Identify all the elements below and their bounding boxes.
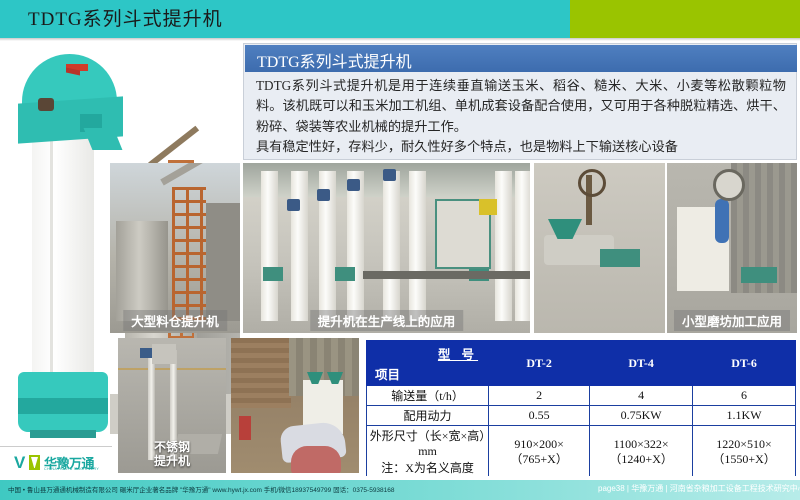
photo2-yellow-part	[479, 199, 497, 215]
footer-page-info: page38 | 华豫万通 | 河南省杂粮加工设备工程技术研究中心 |	[598, 483, 800, 494]
row-label-dimensions-line1: 外形尺寸（长×宽×高）mm	[370, 429, 486, 458]
photo4-fan-wheel	[713, 169, 745, 201]
description-paragraph-1: TDTG系列斗式提升机是用于连续垂直输送玉米、稻谷、糙米、大米、小麦等松散颗粒物…	[256, 76, 786, 137]
page-title: TDTG系列斗式提升机	[28, 4, 223, 31]
spec-table: 型 号 项目 DT-2 DT-4 DT-6 输送量（t/h） 2 4 6 配用动…	[366, 340, 796, 478]
logo-v-icon: V	[14, 454, 30, 471]
photo6-red-object	[239, 416, 251, 440]
photo5-motor	[140, 348, 152, 358]
photo5-caption-line2: 提升机	[154, 454, 190, 468]
company-logo: V 华豫万通 CHINA HUAYU MACHINERY	[14, 452, 106, 474]
cell-power-dt4: 0.75KW	[590, 406, 693, 426]
photo2-column	[291, 171, 308, 321]
cell-capacity-dt4: 4	[590, 386, 693, 406]
logo-leaf-icon	[29, 455, 40, 470]
photo5-elevator-head	[152, 344, 176, 364]
photo2-motor	[347, 179, 360, 191]
description-card: TDTG系列斗式提升机 TDTG系列斗式提升机是用于连续垂直输送玉米、稻谷、糙米…	[243, 43, 797, 160]
slide-page: TDTG系列斗式提升机 TDTG系列斗式提升机 TDTG系列斗式提升机是用于连续…	[0, 0, 800, 500]
table-header-dt4: DT-4	[590, 341, 693, 386]
spec-table-wrapper: 型 号 项目 DT-2 DT-4 DT-6 输送量（t/h） 2 4 6 配用动…	[366, 340, 796, 470]
photo-small-mill-right: 小型磨坊加工应用	[667, 163, 797, 333]
logo-subtext: CHINA HUAYU MACHINERY	[44, 467, 99, 471]
description-paragraph-2: 具有稳定性好，存料少，耐久性好多个特点，也是物料上下输送核心设备	[256, 137, 786, 157]
description-heading: TDTG系列斗式提升机	[257, 48, 412, 72]
table-row: 配用动力 0.55 0.75KW 1.1KW	[367, 406, 796, 426]
cell-capacity-dt2: 2	[489, 386, 590, 406]
photo2-motor	[287, 199, 300, 211]
cell-dimensions-dt6: 1220×510×（1550+X）	[693, 426, 796, 478]
photo2-column	[261, 171, 278, 321]
photo3-collection-table	[600, 249, 640, 267]
row-label-power: 配用动力	[367, 406, 489, 426]
photo2-column	[515, 171, 530, 321]
photo5-caption: 不锈钢 提升机	[118, 441, 226, 469]
photo2-caption: 提升机在生产线上的应用	[310, 310, 464, 331]
photo-stainless-elevator: 不锈钢 提升机	[118, 338, 226, 473]
photo2-column	[383, 171, 400, 321]
cell-power-dt2: 0.55	[489, 406, 590, 426]
elevator-body	[32, 138, 94, 388]
photo6-sack-red	[291, 446, 341, 473]
photo-large-silo-elevator: 大型料仓提升机	[110, 163, 240, 333]
photo1-wall	[206, 203, 240, 321]
footer-contact-text: 中国 • 鲁山县万通通机械制造有限公司 碾米厅企业著名品牌 "华豫万通" www…	[8, 484, 395, 494]
photo1-steel-frame	[172, 187, 206, 321]
photo3-pulley	[578, 169, 606, 197]
photo4-green-tray	[741, 267, 777, 283]
photo2-platform	[363, 271, 530, 279]
photo1-caption: 大型料仓提升机	[123, 310, 227, 331]
photo-mill-room	[231, 338, 359, 473]
table-row: 外形尺寸（长×宽×高）mm 注：X为名义高度 910×200×（765+X） 1…	[367, 426, 796, 478]
photo-small-mill-left	[534, 163, 665, 333]
photo2-column	[495, 171, 512, 321]
photo2-green-unit	[263, 267, 283, 281]
row-label-dimensions: 外形尺寸（长×宽×高）mm 注：X为名义高度	[367, 426, 489, 478]
photo2-column	[347, 171, 364, 321]
table-corner-model-label: 型 号	[438, 344, 478, 363]
page-header: TDTG系列斗式提升机	[0, 0, 800, 38]
description-title-bar: TDTG系列斗式提升机	[245, 45, 797, 72]
table-corner-item-label: 项目	[375, 364, 400, 383]
table-header-dt6: DT-6	[693, 341, 796, 386]
cell-dimensions-dt4: 1100×322×（1240+X）	[590, 426, 693, 478]
photo2-motor	[317, 189, 330, 201]
photo4-caption: 小型磨坊加工应用	[674, 310, 790, 331]
table-header-dt2: DT-2	[489, 341, 590, 386]
elevator-body-edge	[50, 138, 53, 388]
photo2-motor	[383, 169, 396, 181]
header-green-band	[570, 0, 800, 38]
photo-production-line: 提升机在生产线上的应用	[243, 163, 530, 333]
elevator-motor	[38, 98, 54, 111]
photo5-caption-line1: 不锈钢	[154, 440, 190, 454]
cell-dimensions-dt2: 910×200×（765+X）	[489, 426, 590, 478]
header-shadow	[0, 38, 800, 41]
table-row: 输送量（t/h） 2 4 6	[367, 386, 796, 406]
cell-power-dt6: 1.1KW	[693, 406, 796, 426]
page-footer: 中国 • 鲁山县万通通机械制造有限公司 碾米厅企业著名品牌 "华豫万通" www…	[0, 480, 800, 500]
table-header-row: 型 号 项目 DT-2 DT-4 DT-6	[367, 341, 796, 386]
elevator-foot-leg	[30, 430, 96, 438]
row-label-dimensions-line2: 注：X为名义高度	[369, 459, 486, 476]
photo2-column	[409, 171, 426, 321]
logo-divider	[0, 446, 112, 447]
photo6-brick-wall	[231, 338, 291, 408]
photo2-green-unit	[335, 267, 355, 281]
photo4-blue-duct	[715, 199, 729, 243]
cell-capacity-dt6: 6	[693, 386, 796, 406]
elevator-foot-band	[18, 398, 108, 414]
description-body: TDTG系列斗式提升机是用于连续垂直输送玉米、稻谷、糙米、大米、小麦等松散颗粒物…	[256, 76, 786, 158]
row-label-capacity: 输送量（t/h）	[367, 386, 489, 406]
table-corner-cell: 型 号 项目	[367, 341, 489, 386]
photo1-silo	[116, 221, 168, 321]
